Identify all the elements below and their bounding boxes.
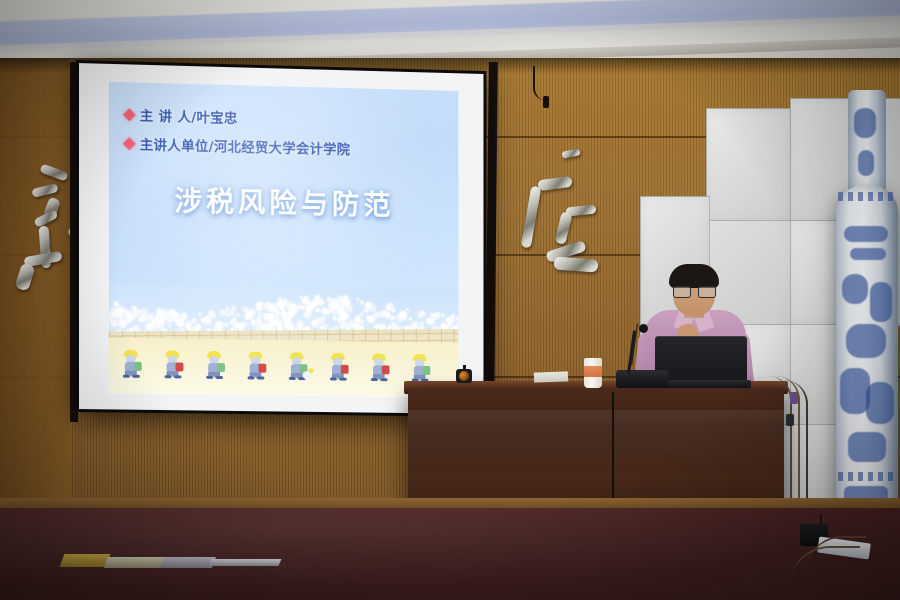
child-shoe	[165, 375, 172, 378]
blossom	[400, 311, 407, 319]
illustration-child	[163, 350, 183, 378]
projection-screen: 主 讲 人/叶宝忠 主讲人单位/河北经贸大学会计学院 涉税风险与防范	[76, 60, 486, 417]
blossom	[237, 322, 243, 328]
slide-title: 涉税风险与防范	[109, 178, 458, 225]
slide-bullet: 主讲人单位/河北经贸大学会计学院	[125, 133, 439, 160]
cable-tag	[786, 414, 794, 426]
blossom	[277, 300, 284, 308]
blossom	[305, 306, 311, 313]
cup-band	[584, 366, 602, 377]
blossom	[226, 307, 229, 310]
lecture-hall-photo: 主 讲 人/叶宝忠 主讲人单位/河北经贸大学会计学院 涉税风险与防范	[0, 0, 900, 600]
blossom	[406, 308, 409, 311]
blossom	[325, 309, 330, 314]
blossom	[365, 309, 369, 313]
red-diamond-icon	[123, 137, 136, 150]
blossom	[315, 295, 320, 300]
blossom	[168, 324, 172, 328]
presentation-slide: 主 讲 人/叶宝忠 主讲人单位/河北经贸大学会计学院 涉税风险与防范	[109, 82, 458, 398]
blossom	[192, 320, 195, 323]
microphone-head	[639, 324, 648, 333]
blossom	[196, 324, 200, 328]
blossom	[331, 302, 338, 309]
blossom	[245, 313, 252, 320]
child-shoe	[206, 376, 213, 379]
blossom	[322, 316, 325, 319]
blossom	[267, 313, 274, 320]
slide-bullet: 主 讲 人/叶宝忠	[125, 104, 439, 132]
blossom	[270, 320, 277, 327]
blossom	[232, 306, 236, 310]
blossom	[433, 314, 439, 320]
presenter-hair	[669, 264, 719, 288]
podium-highlight	[408, 410, 784, 468]
child-shoe	[381, 378, 388, 381]
blossom	[181, 312, 188, 319]
slide-bullet-text: 主 讲 人/叶宝忠	[140, 105, 238, 127]
blossom	[150, 315, 153, 318]
wire-clip	[543, 96, 549, 108]
blossom	[226, 313, 229, 316]
blossom	[391, 308, 395, 312]
floor-objects	[62, 548, 277, 570]
desk-webcam	[456, 365, 474, 385]
blossom	[356, 298, 359, 301]
webcam-lens-icon	[459, 371, 469, 381]
blossom	[315, 309, 318, 312]
blossom	[163, 310, 168, 315]
blossom	[285, 301, 292, 308]
blossom	[251, 320, 255, 325]
black-laptop[interactable]	[655, 336, 747, 388]
vase-rim-band	[838, 192, 896, 201]
blossom	[324, 325, 327, 328]
blossom	[121, 320, 127, 326]
child-backpack	[134, 362, 142, 371]
wall-tile	[706, 108, 792, 222]
floor-object	[160, 557, 216, 568]
child-backpack	[258, 364, 266, 373]
blossom	[333, 317, 336, 321]
calligraphy-character-right	[524, 150, 634, 295]
child-shoe	[175, 375, 182, 378]
child-backpack	[382, 365, 390, 374]
blossom	[304, 312, 311, 319]
illustration-child	[328, 353, 348, 381]
child-backpack	[341, 365, 349, 374]
blossom	[213, 315, 215, 318]
paper-coffee-cup	[584, 358, 602, 388]
slide-bullet-text: 主讲人单位/河北经贸大学会计学院	[140, 134, 351, 159]
blossom	[230, 319, 236, 325]
child-backpack	[176, 362, 184, 371]
blossom	[310, 313, 313, 316]
laptop-lid	[655, 336, 747, 382]
illustration-puppy	[303, 371, 312, 379]
blossom	[278, 324, 282, 328]
illustration-child	[246, 352, 266, 380]
microphone-base	[616, 370, 668, 388]
blossom	[157, 321, 164, 328]
vase-body	[836, 186, 898, 518]
blossom	[420, 311, 424, 315]
blossom	[359, 312, 363, 316]
child-shoe	[371, 378, 378, 381]
vase-foot-band	[838, 472, 896, 481]
blossom	[138, 315, 145, 322]
blue-and-white-porcelain-vase	[836, 186, 898, 518]
desk-papers	[534, 371, 568, 382]
blossom	[361, 319, 365, 323]
slide-bullet-list: 主 讲 人/叶宝忠 主讲人单位/河北经贸大学会计学院	[125, 104, 439, 169]
child-shoe	[340, 378, 347, 381]
blossom	[258, 313, 261, 316]
child-shoe	[123, 375, 130, 378]
blossom	[381, 311, 384, 314]
blossom	[167, 315, 174, 322]
hanging-wire	[533, 66, 551, 100]
child-shoe	[216, 376, 223, 379]
floor-object	[104, 557, 166, 568]
blossom	[205, 315, 212, 322]
child-shoe	[248, 376, 255, 379]
red-diamond-icon	[123, 108, 136, 121]
child-shoe	[330, 377, 337, 380]
blossom	[295, 304, 300, 309]
cable-tag	[790, 392, 798, 404]
blossom	[229, 309, 235, 315]
blossom	[132, 306, 137, 311]
blossom	[115, 307, 120, 312]
illustration-child	[369, 353, 388, 381]
glasses-icon	[673, 286, 715, 296]
blossom	[400, 326, 403, 329]
blossom	[360, 301, 363, 304]
screen-surface: 主 讲 人/叶宝忠 主讲人单位/河北经贸大学会计学院 涉税风险与防范	[79, 63, 483, 414]
blossom	[374, 312, 380, 318]
blossom	[441, 313, 445, 317]
blossom	[391, 316, 394, 319]
floor-object	[60, 554, 111, 567]
blossom	[417, 314, 420, 317]
blossom	[134, 312, 137, 315]
blossom	[257, 316, 262, 321]
blossom	[458, 322, 459, 327]
blossom	[304, 299, 310, 305]
child-shoe	[133, 375, 140, 378]
blossom	[448, 319, 453, 325]
blossom	[160, 316, 165, 321]
blossom	[370, 305, 376, 311]
blossom	[409, 317, 412, 320]
blossom	[327, 299, 330, 302]
child-shoe	[257, 376, 264, 379]
blossom	[111, 320, 118, 327]
child-shoe	[289, 377, 296, 380]
blossom	[236, 313, 240, 317]
child-backpack	[217, 363, 225, 372]
child-backpack	[423, 366, 431, 375]
blossom	[337, 316, 344, 323]
blossom	[199, 313, 202, 316]
blossom	[320, 326, 323, 329]
blossom	[354, 316, 360, 322]
blossom	[111, 307, 114, 310]
blossom	[346, 306, 353, 313]
vase-neck	[848, 90, 886, 194]
blossom	[269, 305, 276, 312]
floor-object	[209, 559, 282, 566]
illustration-child	[410, 354, 429, 382]
illustration-child	[121, 350, 141, 378]
illustration-child	[204, 351, 224, 379]
blossom	[114, 302, 119, 307]
